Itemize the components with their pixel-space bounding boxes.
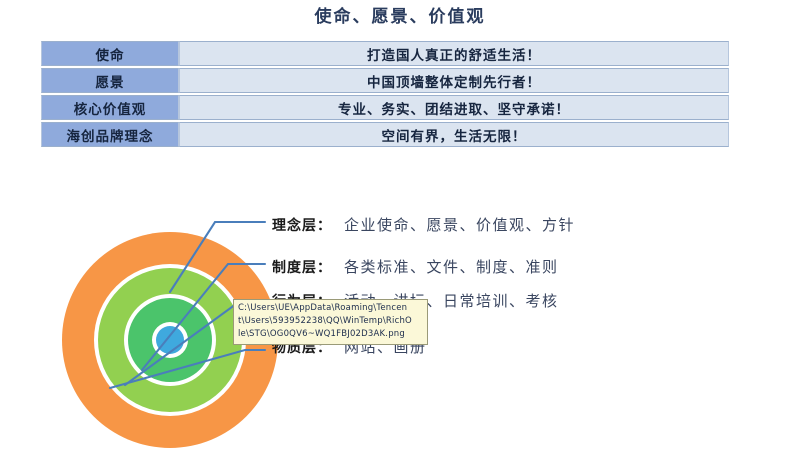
leader-line-material xyxy=(110,350,265,388)
legend-value: 各类标准、文件、制度、准则 xyxy=(344,258,559,276)
table-row: 愿景 中国顶墙整体定制先行者！ xyxy=(41,68,729,93)
table-row-content: 空间有界，生活无限！ xyxy=(179,122,729,147)
page-title: 使命、愿景、价值观 xyxy=(0,2,800,27)
table-row: 核心价值观 专业、务实、团结进取、坚守承诺！ xyxy=(41,95,729,120)
tooltip-line: le\STG\OG0QV6~WQ1FBJ02D3AK.png xyxy=(238,328,424,341)
legend-value: 企业使命、愿景、价值观、方针 xyxy=(344,216,575,234)
table-row-label: 核心价值观 xyxy=(41,95,179,120)
table-row-label: 使命 xyxy=(41,41,179,66)
values-table: 使命 打造国人真正的舒适生活！ 愿景 中国顶墙整体定制先行者！ 核心价值观 专业… xyxy=(41,39,729,149)
table-row-content: 打造国人真正的舒适生活！ xyxy=(179,41,729,66)
file-path-tooltip: C:\Users\UE\AppData\Roaming\Tencen t\Use… xyxy=(233,299,428,345)
tooltip-line: t\Users\593952238\QQ\WinTemp\RichO xyxy=(238,315,424,328)
legend-item-concept: 理念层：企业使命、愿景、价值观、方针 xyxy=(272,218,575,234)
legend-key: 理念层： xyxy=(272,218,332,234)
table-row-content: 专业、务实、团结进取、坚守承诺！ xyxy=(179,95,729,120)
table-body: 使命 打造国人真正的舒适生活！ 愿景 中国顶墙整体定制先行者！ 核心价值观 专业… xyxy=(41,41,729,147)
legend-key: 制度层： xyxy=(272,260,332,276)
table-row-label: 愿景 xyxy=(41,68,179,93)
table-row-label: 海创品牌理念 xyxy=(41,122,179,147)
tooltip-line: C:\Users\UE\AppData\Roaming\Tencen xyxy=(238,302,424,315)
table-row: 海创品牌理念 空间有界，生活无限！ xyxy=(41,122,729,147)
table-row: 使命 打造国人真正的舒适生活！ xyxy=(41,41,729,66)
table-row-content: 中国顶墙整体定制先行者！ xyxy=(179,68,729,93)
legend-item-system: 制度层：各类标准、文件、制度、准则 xyxy=(272,260,559,276)
leader-line-concept xyxy=(170,222,265,292)
